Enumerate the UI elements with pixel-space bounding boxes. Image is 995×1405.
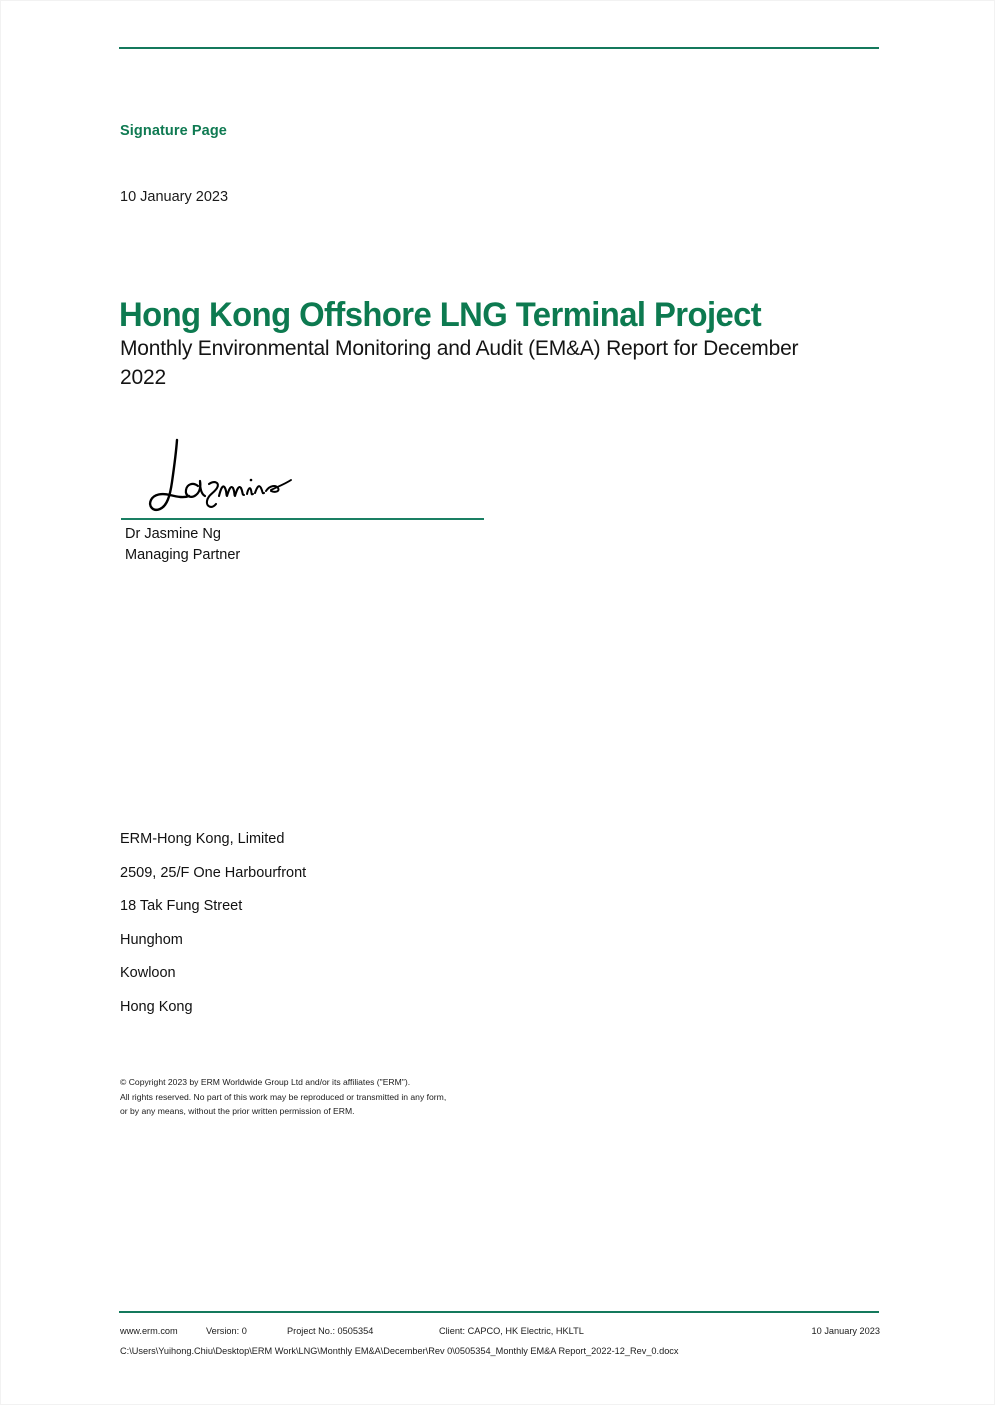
page-title: Hong Kong Offshore LNG Terminal Project [119, 296, 761, 335]
footer-client: Client: CAPCO, HK Electric, HKLTL [439, 1326, 584, 1336]
signature-image [143, 438, 293, 518]
copyright-line: © Copyright 2023 by ERM Worldwide Group … [120, 1075, 446, 1090]
address-line: Hunghom [120, 932, 306, 948]
signature-line [121, 518, 484, 520]
page-subtitle: Monthly Environmental Monitoring and Aud… [120, 334, 810, 392]
address-line: 2509, 25/F One Harbourfront [120, 865, 306, 881]
copyright-line: or by any means, without the prior writt… [120, 1104, 446, 1119]
document-date: 10 January 2023 [120, 189, 228, 205]
footer-metadata: www.erm.com Version: 0 Project No.: 0505… [120, 1326, 880, 1342]
address-line: Kowloon [120, 965, 306, 981]
signatory-name: Dr Jasmine Ng [125, 524, 240, 545]
footer-project-no: Project No.: 0505354 [287, 1326, 373, 1336]
copyright-line: All rights reserved. No part of this wor… [120, 1090, 446, 1105]
header-rule [119, 47, 879, 49]
address-line: ERM-Hong Kong, Limited [120, 831, 306, 847]
signatory-block: Dr Jasmine Ng Managing Partner [125, 524, 240, 566]
document-page: Signature Page 10 January 2023 Hong Kong… [0, 0, 995, 1405]
footer-website[interactable]: www.erm.com [120, 1326, 178, 1336]
section-label-signature-page: Signature Page [120, 123, 227, 139]
footer-date: 10 January 2023 [812, 1326, 880, 1336]
copyright-notice: © Copyright 2023 by ERM Worldwide Group … [120, 1075, 446, 1119]
footer-version: Version: 0 [206, 1326, 247, 1336]
signatory-role: Managing Partner [125, 545, 240, 566]
address-line: 18 Tak Fung Street [120, 898, 306, 914]
address-line: Hong Kong [120, 999, 306, 1015]
footer-rule [119, 1311, 879, 1313]
company-address: ERM-Hong Kong, Limited 2509, 25/F One Ha… [120, 831, 306, 1032]
footer-file-path: C:\Users\Yuihong.Chiu\Desktop\ERM Work\L… [120, 1346, 679, 1356]
